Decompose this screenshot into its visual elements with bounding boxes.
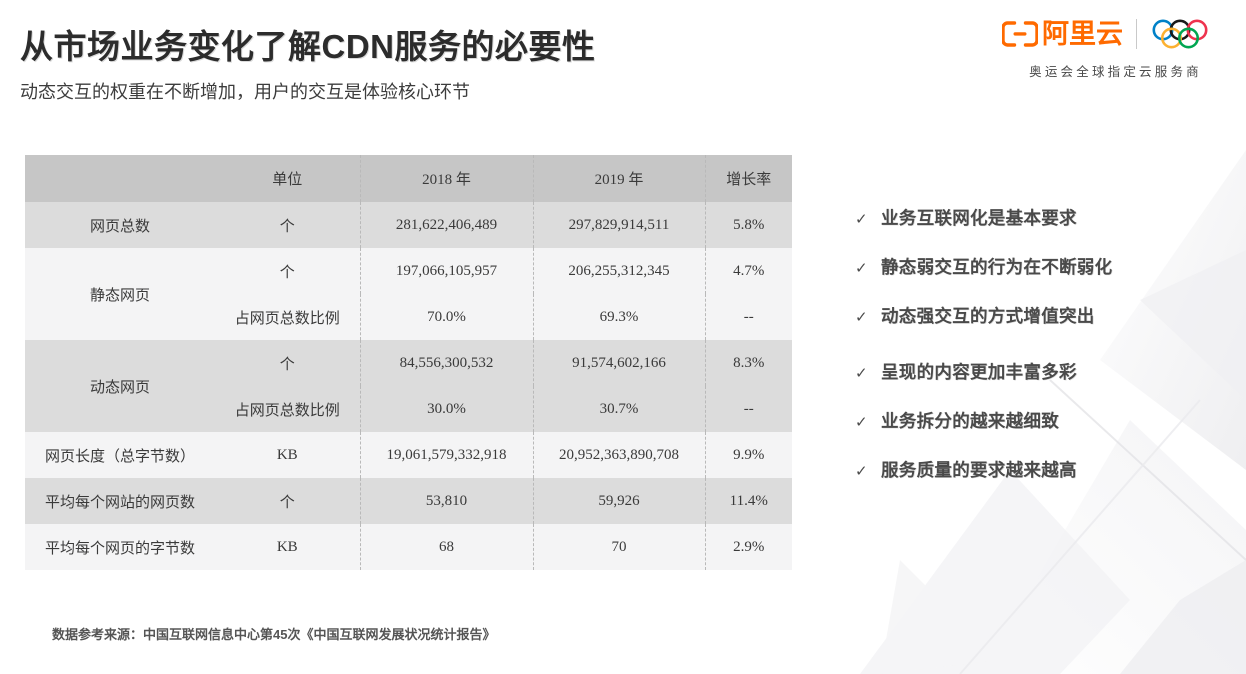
cell-unit: 个: [215, 340, 360, 386]
list-item: ✓ 业务拆分的越来越细致: [855, 408, 1185, 432]
cell-2019: 30.7%: [533, 386, 705, 432]
page-subtitle: 动态交互的权重在不断增加，用户的交互是体验核心环节: [20, 78, 470, 104]
cell-metric-group: 动态网页: [25, 340, 215, 432]
check-icon: ✓: [855, 415, 869, 430]
list-item: ✓ 动态强交互的方式增值突出: [855, 303, 1185, 327]
cell-growth: --: [705, 294, 792, 340]
cell-growth: 9.9%: [705, 432, 792, 478]
cell-2018: 30.0%: [360, 386, 533, 432]
alibaba-cloud-logo: 阿里云: [1002, 21, 1123, 48]
table-row: 网页长度（总字节数） KB 19,061,579,332,918 20,952,…: [25, 432, 792, 478]
cell-growth: 2.9%: [705, 524, 792, 570]
list-item-label: 静态弱交互的行为在不断弱化: [881, 254, 1112, 279]
column-header-2019: 2019 年: [533, 155, 705, 202]
brand-divider: [1136, 19, 1137, 49]
cell-unit: 个: [215, 478, 360, 524]
check-icon: ✓: [855, 261, 869, 276]
key-points-list: ✓ 业务互联网化是基本要求 ✓ 静态弱交互的行为在不断弱化 ✓ 动态强交互的方式…: [855, 205, 1185, 506]
column-header-growth: 增长率: [705, 155, 792, 202]
olympic-rings-icon: [1150, 17, 1226, 51]
cell-2018: 197,066,105,957: [360, 248, 533, 294]
brand-wordmark: 阿里云: [1042, 21, 1123, 48]
table-header-row: 单位 2018 年 2019 年 增长率: [25, 155, 792, 202]
web-statistics-table: 单位 2018 年 2019 年 增长率 网页总数 个 281,622,406,…: [25, 155, 792, 570]
cell-2018: 281,622,406,489: [360, 202, 533, 248]
cell-unit: 个: [215, 202, 360, 248]
brand-tagline: 奥运会全球指定云服务商: [1026, 61, 1202, 80]
cell-unit: KB: [215, 432, 360, 478]
cell-2019: 70: [533, 524, 705, 570]
cell-metric: 平均每个网页的字节数: [25, 524, 215, 570]
column-header-metric: [25, 155, 215, 202]
cell-2018: 84,556,300,532: [360, 340, 533, 386]
cell-growth: --: [705, 386, 792, 432]
cell-2019: 206,255,312,345: [533, 248, 705, 294]
list-item: ✓ 服务质量的要求越来越高: [855, 457, 1185, 481]
cell-2018: 19,061,579,332,918: [360, 432, 533, 478]
check-icon: ✓: [855, 310, 869, 325]
cell-2019: 20,952,363,890,708: [533, 432, 705, 478]
cell-unit: 占网页总数比例: [215, 294, 360, 340]
cell-metric: 平均每个网站的网页数: [25, 478, 215, 524]
cell-growth: 8.3%: [705, 340, 792, 386]
source-note: 数据参考来源：中国互联网信息中心第45次《中国互联网发展状况统计报告》: [52, 624, 495, 643]
cell-metric: 网页长度（总字节数）: [25, 432, 215, 478]
table-head: 单位 2018 年 2019 年 增长率: [25, 155, 792, 202]
cell-growth: 11.4%: [705, 478, 792, 524]
cell-2018: 70.0%: [360, 294, 533, 340]
cell-metric: 网页总数: [25, 202, 215, 248]
data-table-container: 单位 2018 年 2019 年 增长率 网页总数 个 281,622,406,…: [25, 155, 792, 570]
cell-2018: 68: [360, 524, 533, 570]
list-item: ✓ 业务互联网化是基本要求: [855, 205, 1185, 229]
cell-2019: 69.3%: [533, 294, 705, 340]
table-body: 网页总数 个 281,622,406,489 297,829,914,511 5…: [25, 202, 792, 570]
page-title: 从市场业务变化了解CDN服务的必要性: [20, 20, 596, 68]
table-row: 动态网页 个 84,556,300,532 91,574,602,166 8.3…: [25, 340, 792, 386]
cell-2019: 59,926: [533, 478, 705, 524]
list-item-label: 业务拆分的越来越细致: [881, 408, 1059, 433]
list-item-label: 动态强交互的方式增值突出: [881, 303, 1095, 328]
cell-unit: 个: [215, 248, 360, 294]
cell-2019: 297,829,914,511: [533, 202, 705, 248]
column-header-unit: 单位: [215, 155, 360, 202]
cell-unit: 占网页总数比例: [215, 386, 360, 432]
list-item-label: 服务质量的要求越来越高: [881, 457, 1077, 482]
list-item-label: 业务互联网化是基本要求: [881, 205, 1077, 230]
brand-row: 阿里云: [1002, 14, 1226, 54]
check-icon: ✓: [855, 464, 869, 479]
table-row: 网页总数 个 281,622,406,489 297,829,914,511 5…: [25, 202, 792, 248]
check-icon: ✓: [855, 212, 869, 227]
cell-metric-group: 静态网页: [25, 248, 215, 340]
list-item: ✓ 呈现的内容更加丰富多彩: [855, 359, 1185, 383]
table-row: 平均每个网站的网页数 个 53,810 59,926 11.4%: [25, 478, 792, 524]
brand-logo-block: 阿里云 奥运会全球指定云服务商: [1002, 14, 1226, 80]
list-item-label: 呈现的内容更加丰富多彩: [881, 359, 1077, 384]
alibaba-cloud-mark-icon: [1002, 21, 1038, 47]
check-icon: ✓: [855, 366, 869, 381]
cell-2018: 53,810: [360, 478, 533, 524]
cell-unit: KB: [215, 524, 360, 570]
table-row: 静态网页 个 197,066,105,957 206,255,312,345 4…: [25, 248, 792, 294]
table-row: 平均每个网页的字节数 KB 68 70 2.9%: [25, 524, 792, 570]
column-header-2018: 2018 年: [360, 155, 533, 202]
list-item: ✓ 静态弱交互的行为在不断弱化: [855, 254, 1185, 278]
cell-2019: 91,574,602,166: [533, 340, 705, 386]
cell-growth: 4.7%: [705, 248, 792, 294]
cell-growth: 5.8%: [705, 202, 792, 248]
